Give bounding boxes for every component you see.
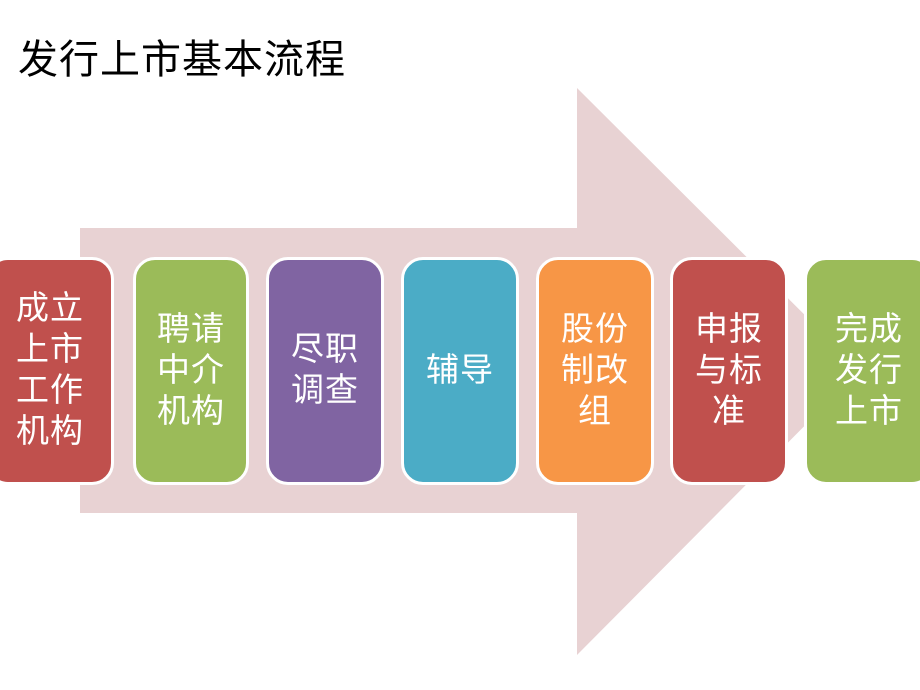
page-title: 发行上市基本流程 <box>18 36 346 84</box>
flow-step-6[interactable]: 申报与标准 <box>670 257 788 485</box>
flow-step-2-label: 聘请中介机构 <box>153 310 229 433</box>
flow-step-4-label: 辅导 <box>422 351 498 392</box>
flow-step-4[interactable]: 辅导 <box>401 257 519 485</box>
flow-step-6-label: 申报与标准 <box>691 310 767 433</box>
flow-step-7[interactable]: 完成发行上市 <box>804 257 920 485</box>
flow-step-5-label: 股份制改组 <box>557 310 633 433</box>
flow-step-1[interactable]: 成立上市工作机构 <box>0 257 114 485</box>
flow-step-2[interactable]: 聘请中介机构 <box>133 257 249 485</box>
flow-step-5[interactable]: 股份制改组 <box>536 257 654 485</box>
flow-step-3[interactable]: 尽职调查 <box>266 257 384 485</box>
flow-steps-row: 成立上市工作机构 聘请中介机构 尽职调查 辅导 股份制改组 申报与标准 完成发行… <box>0 257 920 485</box>
slide-canvas: 发行上市基本流程 成立上市工作机构 聘请中介机构 尽职调查 辅导 股份制改组 申… <box>0 0 920 690</box>
flow-step-3-label: 尽职调查 <box>287 330 363 412</box>
flow-step-1-label: 成立上市工作机构 <box>12 289 88 453</box>
flow-step-7-label: 完成发行上市 <box>831 310 907 433</box>
